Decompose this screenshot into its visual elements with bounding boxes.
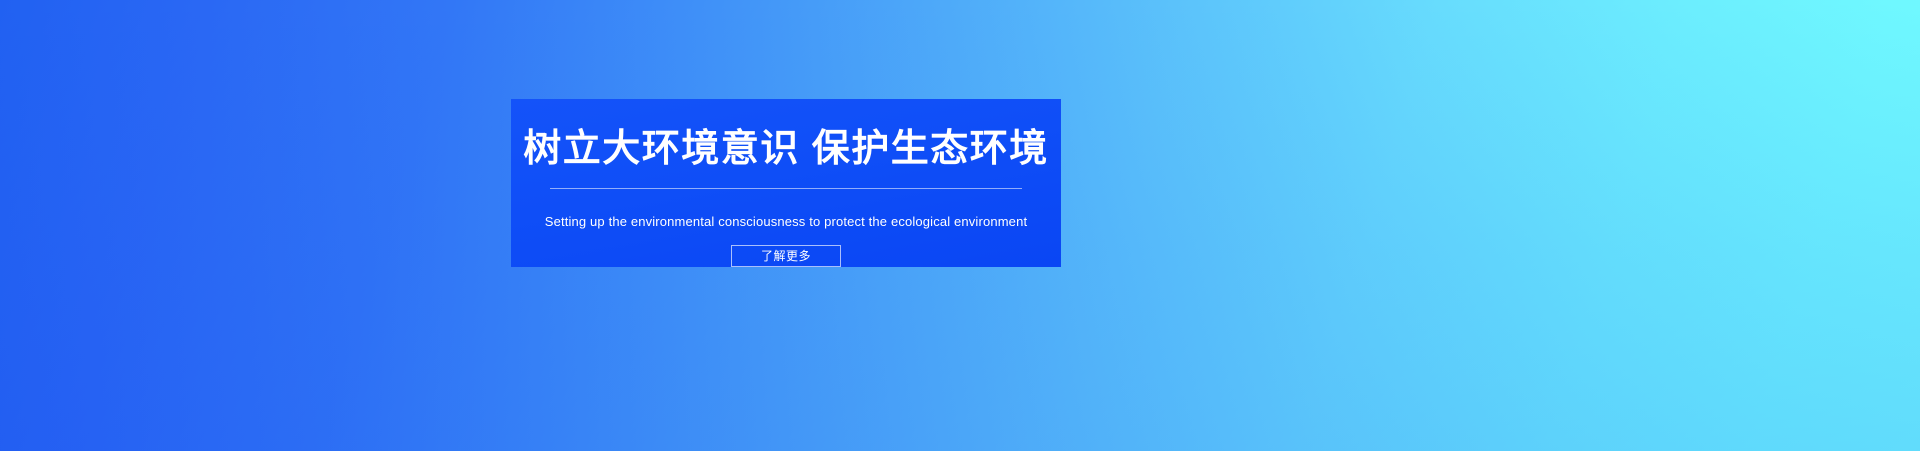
learn-more-button[interactable]: 了解更多 <box>731 245 841 267</box>
title-divider <box>550 188 1022 189</box>
hero-subtitle: Setting up the environmental consciousne… <box>545 214 1027 230</box>
hero-content-card: 树立大环境意识 保护生态环境 Setting up the environmen… <box>511 99 1061 267</box>
hero-banner: 树立大环境意识 保护生态环境 Setting up the environmen… <box>0 0 1920 451</box>
page-title: 树立大环境意识 保护生态环境 <box>523 130 1049 168</box>
